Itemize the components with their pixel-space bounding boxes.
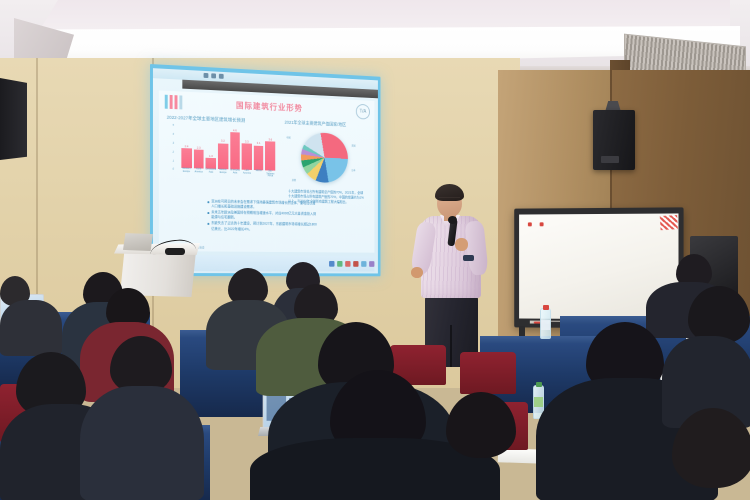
bar-3: 3.2 [218, 143, 228, 169]
bar-value-label: 4.6 [230, 128, 240, 132]
right-chart-subtitle: 2021年全球主要建筑产值国家/地区 [284, 120, 346, 128]
pie-label: 中国 [286, 135, 290, 139]
bar-category-label: Emerging Asia [230, 169, 240, 177]
slide-right-paragraph: 十大建筑市场将占所有建筑总产值的70%，2021年，全球十大建筑市场占所有建筑产… [288, 189, 365, 205]
bar-category-label: Western Europe [181, 168, 191, 176]
conference-room-photo: 国际建筑行业形势 T/A 2022-2027年全球主要地区建筑增长预测 2021… [0, 0, 750, 500]
wall-speaker-right-icon [593, 110, 635, 170]
bar-value-label: 3.1 [254, 141, 264, 145]
bar-chart-bars: 2.42.31.33.24.63.33.13.6 [181, 127, 275, 170]
slide-canvas: 国际建筑行业形势 T/A 2022-2027年全球主要地区建筑增长预测 2021… [159, 90, 375, 252]
magnet-icon [528, 222, 532, 226]
bar-0: 2.4 [181, 148, 191, 168]
bar-value-label: 3.6 [265, 137, 275, 141]
magnet-icon [540, 222, 544, 226]
presenter-right-hand [455, 238, 468, 251]
pie-label: 美国 [351, 143, 355, 147]
bar-5: 3.3 [242, 143, 252, 170]
slide-logo: T/A [356, 104, 370, 120]
pie-chart [301, 132, 348, 183]
media-icon[interactable] [369, 261, 374, 267]
chair [460, 352, 516, 394]
left-chart-subtitle: 2022-2027年全球主要地区建筑增长预测 [167, 115, 245, 124]
bar-4: 4.6 [230, 132, 240, 169]
ribbon-icons [204, 73, 224, 79]
note-icon[interactable] [361, 261, 366, 267]
lectern-laptop [123, 233, 153, 251]
bar-category-label: Sub-Saharan Africa [265, 170, 275, 178]
checkered-note [660, 215, 678, 230]
bar-category-label: Latin America [242, 170, 252, 178]
bar-category-label: North America [194, 168, 204, 176]
wall-speaker-left-icon [0, 78, 27, 160]
bar-7: 3.6 [265, 142, 275, 171]
bar-6: 3.1 [254, 145, 264, 170]
bar-chart: 543 210 2.42.31.33.24.63.33.13.6 Western… [173, 124, 276, 178]
microphone-head [448, 216, 457, 224]
bar-2: 1.3 [206, 158, 216, 169]
trouser-seam [450, 325, 452, 367]
bar-value-label: 3.2 [218, 139, 228, 143]
water-bottle [540, 308, 551, 339]
microphone-base [165, 248, 185, 255]
slide-bullet-2: 东欧失去了过去的十年建设，预计到2027年，东欧建筑市场将增长超过1800亿美元… [207, 221, 317, 232]
bar-category-label: Developed Asia [206, 169, 217, 177]
pie-label: 日本 [351, 168, 355, 172]
wristwatch [463, 255, 474, 261]
bar-value-label: 3.3 [242, 139, 252, 143]
bar-category-label: MENA [254, 170, 264, 178]
chat-icon[interactable] [337, 261, 342, 267]
pie-label: 其他 [292, 178, 296, 182]
bar-value-label: 2.3 [194, 145, 204, 149]
browser-icon[interactable] [329, 261, 334, 267]
audience-body [80, 386, 204, 500]
presenter-glasses [439, 197, 460, 203]
audience-body [0, 300, 62, 356]
slide-title: 国际建筑行业形势 [159, 96, 375, 117]
bar-value-label: 2.4 [181, 144, 191, 148]
bar-1: 2.3 [194, 150, 204, 169]
bar-value-label: 1.3 [206, 154, 216, 158]
bar-chart-y-axis: 543 210 [173, 124, 181, 176]
office-icon[interactable] [353, 261, 358, 267]
bar-category-label: Eastern Europe [218, 169, 228, 177]
chrome-icon[interactable] [345, 261, 350, 267]
bar-chart-x-labels: Western EuropeNorth AmericaDeveloped Asi… [181, 168, 275, 178]
presenter-left-hand [411, 267, 423, 278]
